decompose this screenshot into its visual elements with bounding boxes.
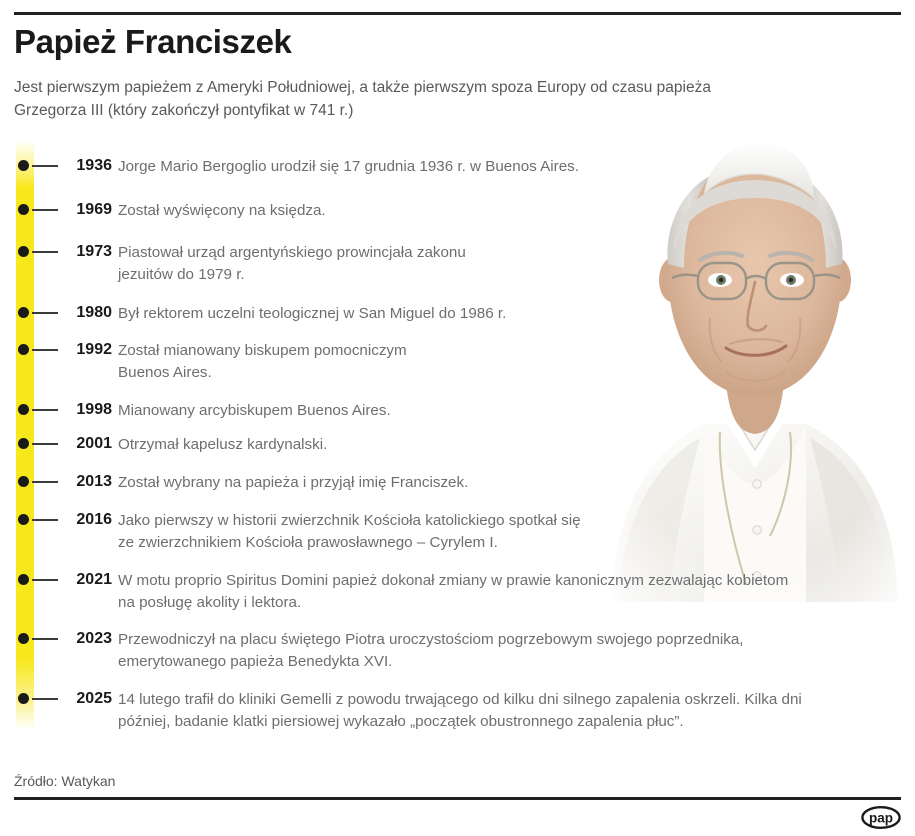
pap-logo: pap [861, 806, 901, 829]
timeline-entry: 2021W motu proprio Spiritus Domini papie… [0, 570, 915, 614]
timeline-entry: 2016Jako pierwszy w historii zwierzchnik… [0, 510, 915, 554]
timeline-description: Był rektorem uczelni teologicznej w San … [118, 303, 506, 325]
timeline-description: Mianowany arcybiskupem Buenos Aires. [118, 400, 391, 422]
timeline-year: 1936 [56, 156, 112, 176]
timeline-description: Przewodniczył na placu świętego Piotra u… [118, 629, 744, 673]
timeline-description: Został mianowany biskupem pomocniczym Bu… [118, 340, 407, 384]
timeline-description: Otrzymał kapelusz kardynalski. [118, 434, 327, 456]
timeline-bullet-icon [18, 693, 29, 704]
timeline-entry: 2013Został wybrany na papieża i przyjął … [0, 472, 915, 494]
timeline-year: 1973 [56, 242, 112, 262]
timeline-connector-line [32, 251, 58, 253]
timeline-entry: 1973Piastował urząd argentyńskiego prowi… [0, 242, 915, 286]
timeline-connector-line [32, 638, 58, 640]
timeline-connector-line [32, 312, 58, 314]
timeline-connector-line [32, 481, 58, 483]
timeline-bullet-icon [18, 404, 29, 415]
timeline-entry: 2023Przewodniczył na placu świętego Piot… [0, 629, 915, 673]
source-note: Źródło: Watykan [14, 772, 115, 790]
timeline-connector-line [32, 349, 58, 351]
timeline-entry: 202514 lutego trafił do kliniki Gemelli … [0, 689, 915, 733]
timeline-bullet-icon [18, 344, 29, 355]
timeline-bullet-icon [18, 476, 29, 487]
timeline-description: W motu proprio Spiritus Domini papież do… [118, 570, 788, 614]
timeline-bullet-icon [18, 160, 29, 171]
timeline-year: 1998 [56, 400, 112, 420]
top-divider [14, 12, 901, 15]
timeline-connector-line [32, 443, 58, 445]
timeline-entry: 1936Jorge Mario Bergoglio urodził się 17… [0, 156, 915, 178]
timeline-year: 2016 [56, 510, 112, 530]
timeline-description: Jako pierwszy w historii zwierzchnik Koś… [118, 510, 581, 554]
timeline-year: 2025 [56, 689, 112, 709]
timeline-bullet-icon [18, 204, 29, 215]
timeline-year: 2001 [56, 434, 112, 454]
page-title: Papież Franciszek [14, 22, 292, 62]
timeline-bullet-icon [18, 438, 29, 449]
page-subtitle: Jest pierwszym papieżem z Ameryki Połudn… [14, 76, 844, 122]
timeline-bullet-icon [18, 574, 29, 585]
timeline-connector-line [32, 519, 58, 521]
timeline-bullet-icon [18, 633, 29, 644]
timeline-connector-line [32, 409, 58, 411]
timeline-year: 2013 [56, 472, 112, 492]
timeline-bullet-icon [18, 307, 29, 318]
timeline-connector-line [32, 165, 58, 167]
bottom-divider [14, 797, 901, 800]
pap-logo-text: pap [869, 810, 893, 825]
timeline-description: Został wybrany na papieża i przyjął imię… [118, 472, 468, 494]
timeline: 1936Jorge Mario Bergoglio urodził się 17… [0, 140, 915, 740]
timeline-connector-line [32, 698, 58, 700]
timeline-description: 14 lutego trafił do kliniki Gemelli z po… [118, 689, 802, 733]
timeline-description: Jorge Mario Bergoglio urodził się 17 gru… [118, 156, 579, 178]
timeline-entry: 2001Otrzymał kapelusz kardynalski. [0, 434, 915, 456]
timeline-year: 1969 [56, 200, 112, 220]
timeline-description: Został wyświęcony na księdza. [118, 200, 326, 222]
timeline-entry: 1980Był rektorem uczelni teologicznej w … [0, 303, 915, 325]
timeline-year: 2023 [56, 629, 112, 649]
timeline-entry: 1998Mianowany arcybiskupem Buenos Aires. [0, 400, 915, 422]
timeline-entry: 1969Został wyświęcony na księdza. [0, 200, 915, 222]
timeline-entry: 1992Został mianowany biskupem pomocniczy… [0, 340, 915, 384]
timeline-year: 1980 [56, 303, 112, 323]
timeline-description: Piastował urząd argentyńskiego prowincja… [118, 242, 466, 286]
timeline-connector-line [32, 209, 58, 211]
timeline-bullet-icon [18, 246, 29, 257]
timeline-year: 1992 [56, 340, 112, 360]
timeline-connector-line [32, 579, 58, 581]
timeline-year: 2021 [56, 570, 112, 590]
timeline-bullet-icon [18, 514, 29, 525]
infographic-page: Papież Franciszek Jest pierwszym papieże… [0, 0, 915, 836]
